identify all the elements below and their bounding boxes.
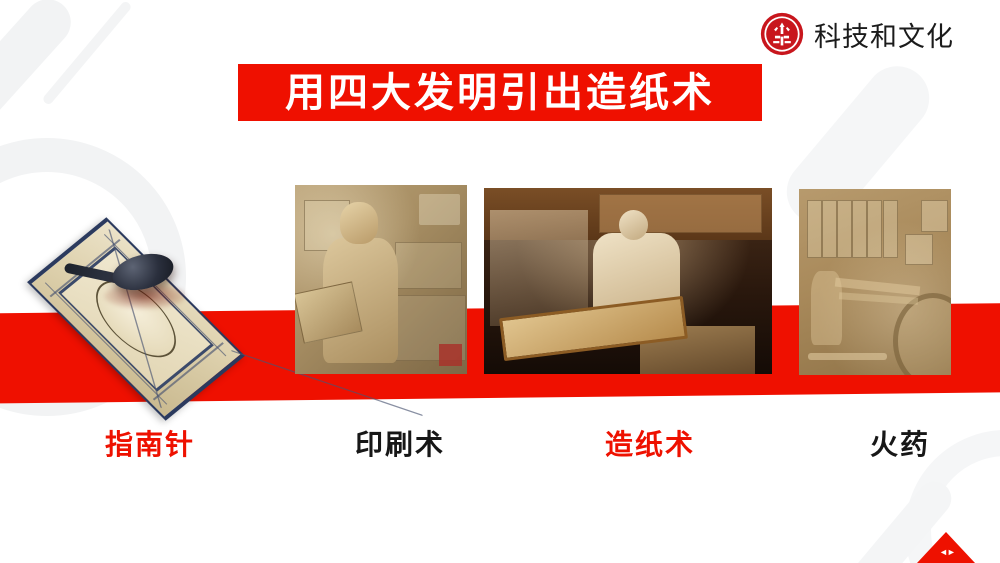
watermark-bar-top-left — [0, 0, 80, 132]
printing-scene-panel-right — [395, 242, 462, 289]
peking-university-seal-icon — [760, 12, 804, 56]
printing-figure-head — [340, 202, 378, 244]
brand-title: 科技和文化 — [814, 15, 954, 54]
title-banner: 用四大发明引出造纸术 — [238, 64, 762, 121]
caption-gunpowder: 火药 — [870, 424, 930, 466]
page-title: 用四大发明引出造纸术 — [285, 73, 715, 113]
image-gunpowder — [799, 189, 951, 375]
gunpowder-text-strip — [822, 200, 837, 258]
printing-name-plate — [419, 194, 460, 224]
triangle-up-marker-icon[interactable]: ◄► — [917, 532, 975, 563]
image-papermaking — [484, 188, 772, 374]
watermark-stick-top-left — [41, 0, 132, 106]
compass-illustration — [8, 213, 278, 365]
gunpowder-title-char-2 — [905, 234, 933, 266]
brand-header: 科技和文化 — [760, 12, 954, 56]
gunpowder-text-strip — [837, 200, 852, 258]
caption-printing: 印刷术 — [355, 424, 445, 466]
papermaking-figure-head — [619, 210, 648, 240]
printing-red-seal — [439, 344, 461, 367]
image-compass — [8, 213, 278, 365]
marker-glyph: ◄► — [939, 549, 953, 556]
gunpowder-text-strip — [807, 200, 822, 258]
image-printing — [295, 185, 467, 374]
gunpowder-text-strip — [852, 200, 867, 258]
gunpowder-text-strip — [867, 200, 882, 258]
gunpowder-rocket-arrow — [808, 353, 887, 360]
slide-root: 科技和文化 用四大发明引出造纸术 — [0, 0, 1000, 563]
caption-papermaking: 造纸术 — [605, 424, 695, 466]
caption-row: 指南针 印刷术 造纸术 火药 — [0, 424, 1000, 466]
gunpowder-title-char-1 — [921, 200, 949, 232]
caption-compass: 指南针 — [105, 424, 195, 466]
gunpowder-text-strip — [883, 200, 898, 258]
